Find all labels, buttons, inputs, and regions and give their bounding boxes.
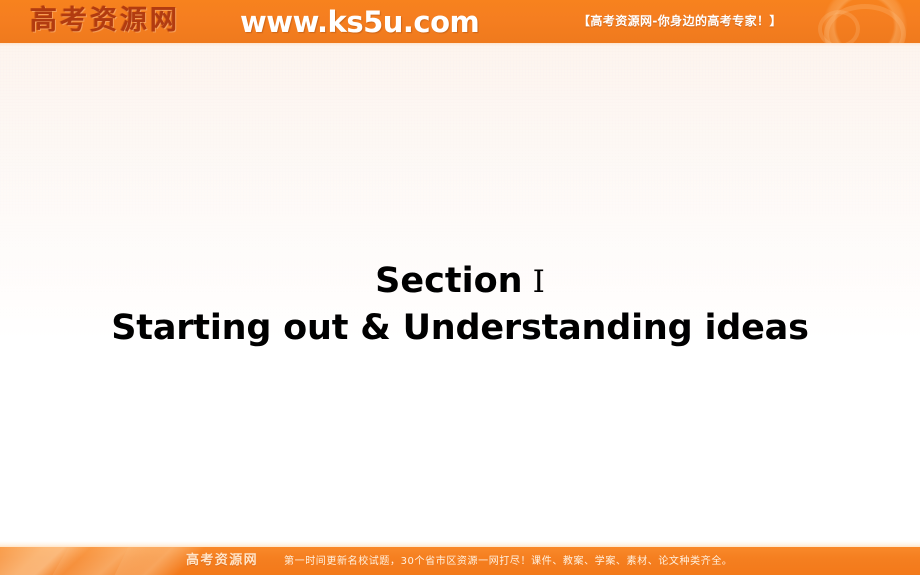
footer-swoosh-decoration-icon bbox=[0, 547, 166, 575]
slide-title-roman-numeral: Ⅰ bbox=[523, 264, 545, 300]
footer-banner: 高考资源网 第一时间更新名校试题，30个省市区资源一网打尽！课件、教案、学案、素… bbox=[0, 547, 920, 575]
slide-canvas: 高考资源网 www.ks5u.com 【高考资源网-你身边的高考专家！】 Sec… bbox=[0, 0, 920, 575]
header-swirl-decoration-icon bbox=[800, 0, 920, 43]
header-banner: 高考资源网 www.ks5u.com 【高考资源网-你身边的高考专家！】 bbox=[0, 0, 920, 43]
slide-title-section-word: Section bbox=[375, 261, 522, 301]
slide-title-line-one: SectionⅠ bbox=[0, 258, 920, 305]
header-small-circle-decoration-icon bbox=[818, 10, 860, 43]
header-circle-decoration-icon bbox=[824, 4, 906, 43]
footer-note-text: 第一时间更新名校试题，30个省市区资源一网打尽！课件、教案、学案、素材、论文种类… bbox=[284, 554, 733, 569]
footer-logo-text: 高考资源网 bbox=[186, 552, 258, 570]
header-divider bbox=[0, 43, 920, 47]
slide-title-line-two: Starting out & Understanding ideas bbox=[0, 305, 920, 351]
site-logo-text: 高考资源网 bbox=[30, 4, 180, 38]
slide-title-block: SectionⅠ Starting out & Understanding id… bbox=[0, 258, 920, 351]
site-tagline-text: 【高考资源网-你身边的高考专家！】 bbox=[578, 13, 782, 29]
site-url-text: www.ks5u.com bbox=[240, 6, 479, 38]
